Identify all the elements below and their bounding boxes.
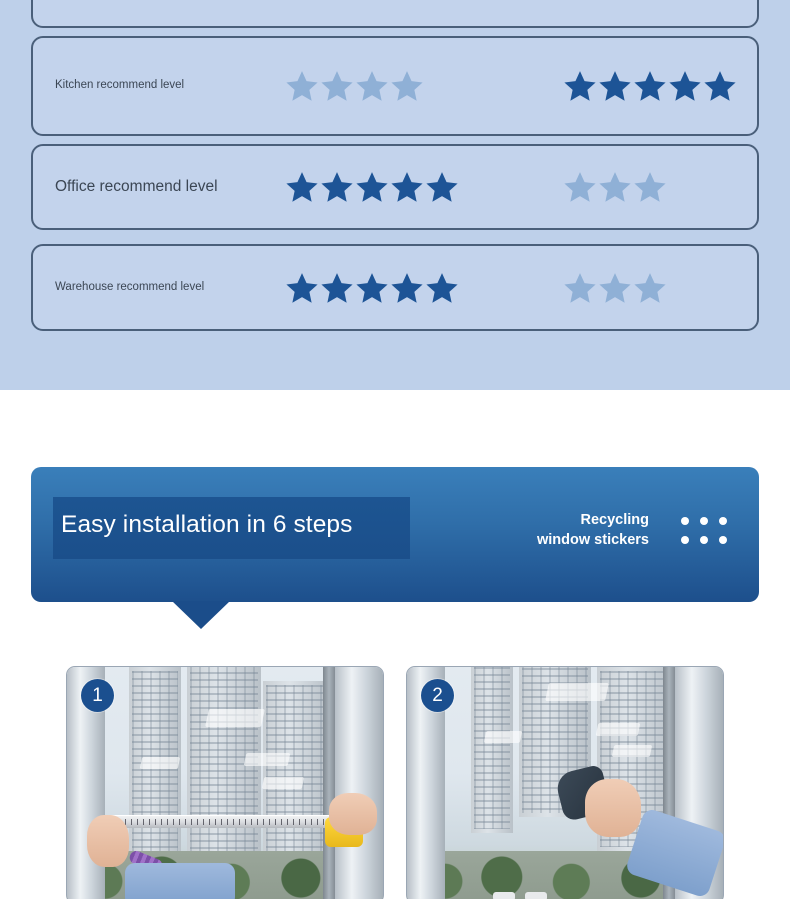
window-sticker <box>244 753 291 766</box>
dot-icon <box>700 536 708 544</box>
car <box>525 892 547 899</box>
banner-subtitle-line1: Recycling <box>537 511 649 531</box>
star-icon <box>425 170 459 204</box>
star-icon <box>320 271 354 305</box>
star-icon <box>355 170 389 204</box>
dot-icon <box>681 536 689 544</box>
rating-card-kitchen: Kitchen recommend level <box>31 36 759 136</box>
star-icon <box>425 271 459 305</box>
hand-left <box>87 815 129 867</box>
banner-subtitle-line2: window stickers <box>537 531 649 551</box>
tape-measure-blade <box>111 815 329 828</box>
rating-card-clipped <box>31 0 759 28</box>
product-detail-page: Kitchen recommend level Office recommend… <box>0 0 790 899</box>
banner-heading-text: Easy installation in 6 steps <box>61 511 353 539</box>
banner-subtitle: Recycling window stickers <box>537 511 649 550</box>
star-icon <box>633 170 667 204</box>
star-icon <box>598 69 632 103</box>
rating-stars-kitchen-right <box>563 69 737 103</box>
rating-card-warehouse: Warehouse recommend level <box>31 244 759 331</box>
star-icon <box>563 69 597 103</box>
hand-right <box>329 793 377 835</box>
step-photo-2[interactable]: 2 <box>406 666 724 899</box>
star-icon <box>598 271 632 305</box>
rating-label-office: Office recommend level <box>55 178 255 196</box>
star-icon <box>390 69 424 103</box>
step-1-image <box>67 667 383 899</box>
step-2-image <box>407 667 723 899</box>
star-icon <box>563 170 597 204</box>
step-photo-grid: 1 <box>66 666 726 899</box>
rating-stars-office-right <box>563 170 667 204</box>
window-sticker <box>484 731 523 743</box>
star-icon <box>633 271 667 305</box>
dot-grid-icon <box>681 517 727 544</box>
dot-icon <box>719 517 727 525</box>
rating-card-office: Office recommend level <box>31 144 759 230</box>
rating-stars-warehouse-right <box>563 271 667 305</box>
star-icon <box>285 271 319 305</box>
rating-label-warehouse: Warehouse recommend level <box>55 281 255 295</box>
window-sticker <box>205 709 265 727</box>
window-sticker <box>140 757 181 769</box>
hand <box>585 779 641 837</box>
star-icon <box>285 69 319 103</box>
star-icon <box>703 69 737 103</box>
window-sticker <box>545 683 609 701</box>
star-icon <box>598 170 632 204</box>
star-icon <box>355 271 389 305</box>
star-icon <box>320 69 354 103</box>
star-icon <box>390 271 424 305</box>
star-icon <box>668 69 702 103</box>
dot-icon <box>719 536 727 544</box>
dot-icon <box>700 517 708 525</box>
step-photo-1[interactable]: 1 <box>66 666 384 899</box>
rating-label-kitchen: Kitchen recommend level <box>55 79 255 93</box>
star-icon <box>355 69 389 103</box>
rating-stars-kitchen-left <box>285 69 424 103</box>
step-number-badge-2: 2 <box>421 679 454 712</box>
banner-pointer-triangle <box>172 601 230 629</box>
window-mullion <box>323 667 335 899</box>
car <box>493 892 515 899</box>
star-icon <box>285 170 319 204</box>
dot-icon <box>681 517 689 525</box>
installation-banner: Easy installation in 6 steps Recycling w… <box>31 467 759 602</box>
building <box>471 666 513 833</box>
window-sticker <box>596 723 641 736</box>
step-number-badge-1: 1 <box>81 679 114 712</box>
star-icon <box>320 170 354 204</box>
rating-stars-office-left <box>285 170 459 204</box>
installation-steps-section: Easy installation in 6 steps Recycling w… <box>0 390 790 899</box>
building <box>129 667 181 877</box>
recommend-level-section: Kitchen recommend level Office recommend… <box>0 0 790 390</box>
star-icon <box>633 69 667 103</box>
window-sticker <box>612 745 653 757</box>
rating-stars-warehouse-left <box>285 271 459 305</box>
window-sticker <box>262 777 305 789</box>
window-frame-right <box>335 667 383 899</box>
star-icon <box>390 170 424 204</box>
installation-banner-wrap: Easy installation in 6 steps Recycling w… <box>31 467 759 602</box>
sleeve <box>125 863 235 899</box>
star-icon <box>563 271 597 305</box>
